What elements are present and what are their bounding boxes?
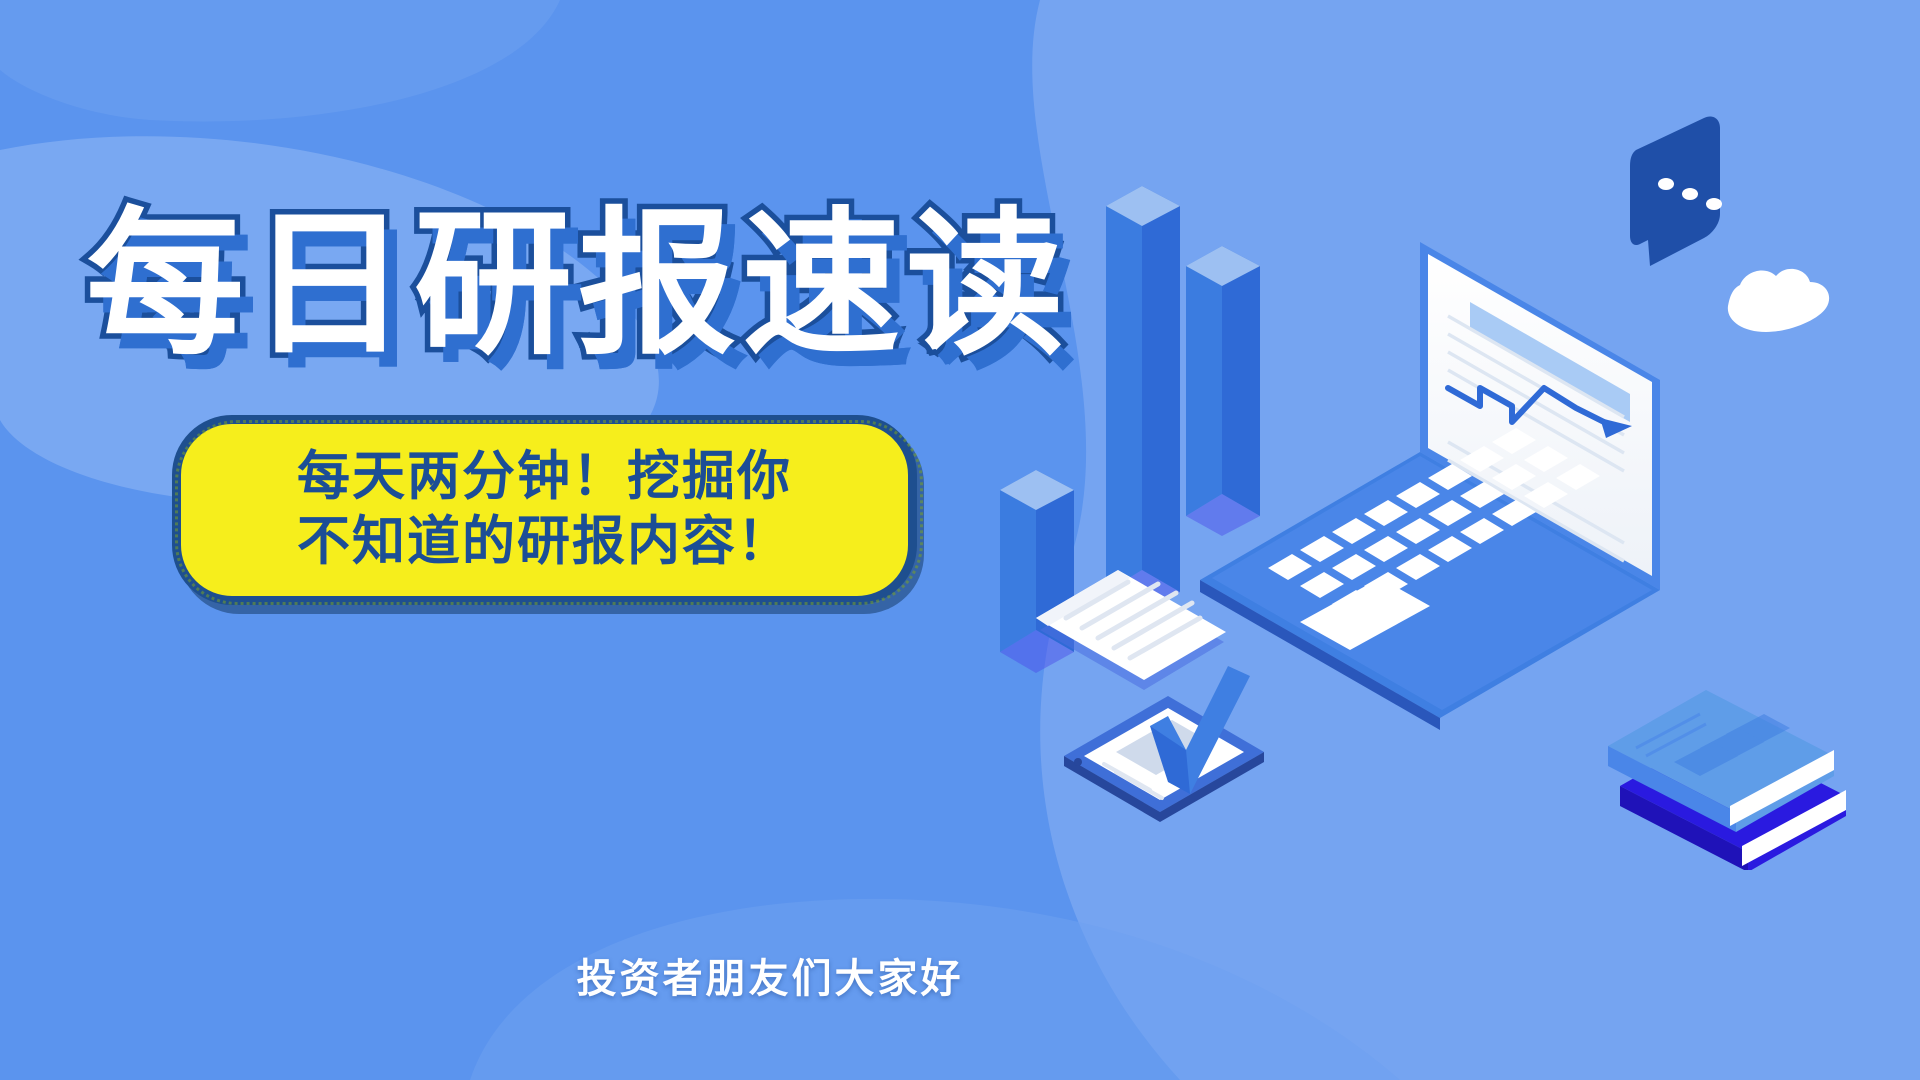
poster-title: 每日研报速读 xyxy=(86,206,1086,396)
book-stack xyxy=(1608,690,1846,870)
title-text: 每日研报速读 xyxy=(86,206,1086,364)
cloud-icon xyxy=(1728,269,1829,332)
bar-2 xyxy=(1106,186,1180,612)
subtitle-badge: 每天两分钟！挖掘你 不知道的研报内容！ xyxy=(172,415,917,605)
illustration xyxy=(1000,70,1920,870)
badge-line-1: 每天两分钟！挖掘你 xyxy=(297,446,792,509)
chat-bubble-icon xyxy=(1630,116,1722,266)
bar-3 xyxy=(1186,246,1260,536)
laptop xyxy=(1200,242,1660,730)
illustration-svg xyxy=(1000,70,1920,870)
caption-text: 投资者朋友们大家好 xyxy=(0,946,1540,1004)
poster-canvas: 每日研报速读 每天两分钟！挖掘你 不知道的研报内容！ 投资者朋友们大家好 xyxy=(0,0,1920,1080)
badge-line-2: 不知道的研报内容！ xyxy=(297,511,792,574)
